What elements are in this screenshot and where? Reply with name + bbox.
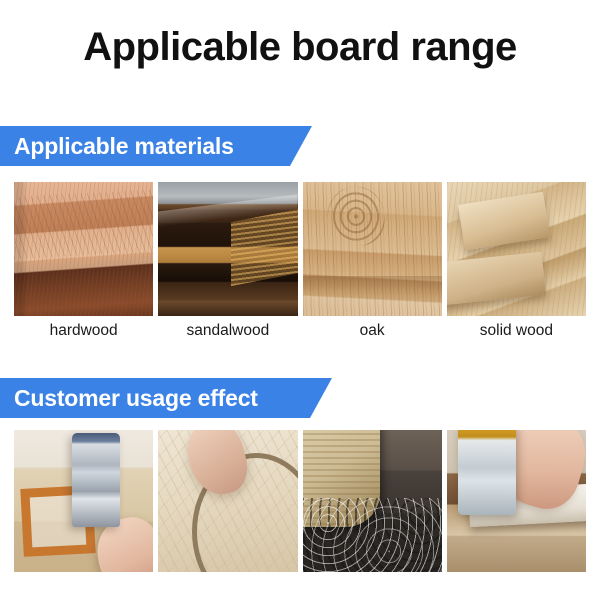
infographic-page: Applicable board range Applicable materi… xyxy=(0,0,600,600)
oak-photo xyxy=(303,182,442,316)
material-card-oak: oak xyxy=(303,182,442,342)
usage-card-trimmer-on-jig xyxy=(14,430,153,572)
trimmer-on-jig-photo xyxy=(14,430,153,572)
rounded-corner-photo xyxy=(303,430,442,572)
hand-shape xyxy=(91,512,154,572)
edge-trimming-photo xyxy=(447,430,586,572)
curved-template-photo xyxy=(158,430,297,572)
materials-image-grid: hardwood sandalwood oak solid wood xyxy=(14,182,586,342)
section-banner-customer-usage-effect: Customer usage effect xyxy=(0,378,332,418)
usage-card-rounded-corner xyxy=(303,430,442,572)
usage-card-edge-trimming xyxy=(447,430,586,572)
material-card-solid-wood: solid wood xyxy=(447,182,586,342)
sandalwood-photo xyxy=(158,182,297,316)
material-card-hardwood: hardwood xyxy=(14,182,153,342)
usage-effect-image-grid xyxy=(14,430,586,572)
material-caption-hardwood: hardwood xyxy=(14,320,153,342)
material-caption-oak: oak xyxy=(303,320,442,342)
material-card-sandalwood: sandalwood xyxy=(158,182,297,342)
page-title: Applicable board range xyxy=(0,22,600,72)
hardwood-photo xyxy=(14,182,153,316)
hand-shape xyxy=(492,430,586,516)
section-banner-applicable-materials: Applicable materials xyxy=(0,126,312,166)
material-caption-sandalwood: sandalwood xyxy=(158,320,297,342)
solid-wood-photo xyxy=(447,182,586,316)
material-caption-solid-wood: solid wood xyxy=(447,320,586,342)
section-banner-label: Applicable materials xyxy=(14,133,234,160)
section-banner-label: Customer usage effect xyxy=(14,385,258,412)
usage-card-curved-template xyxy=(158,430,297,572)
